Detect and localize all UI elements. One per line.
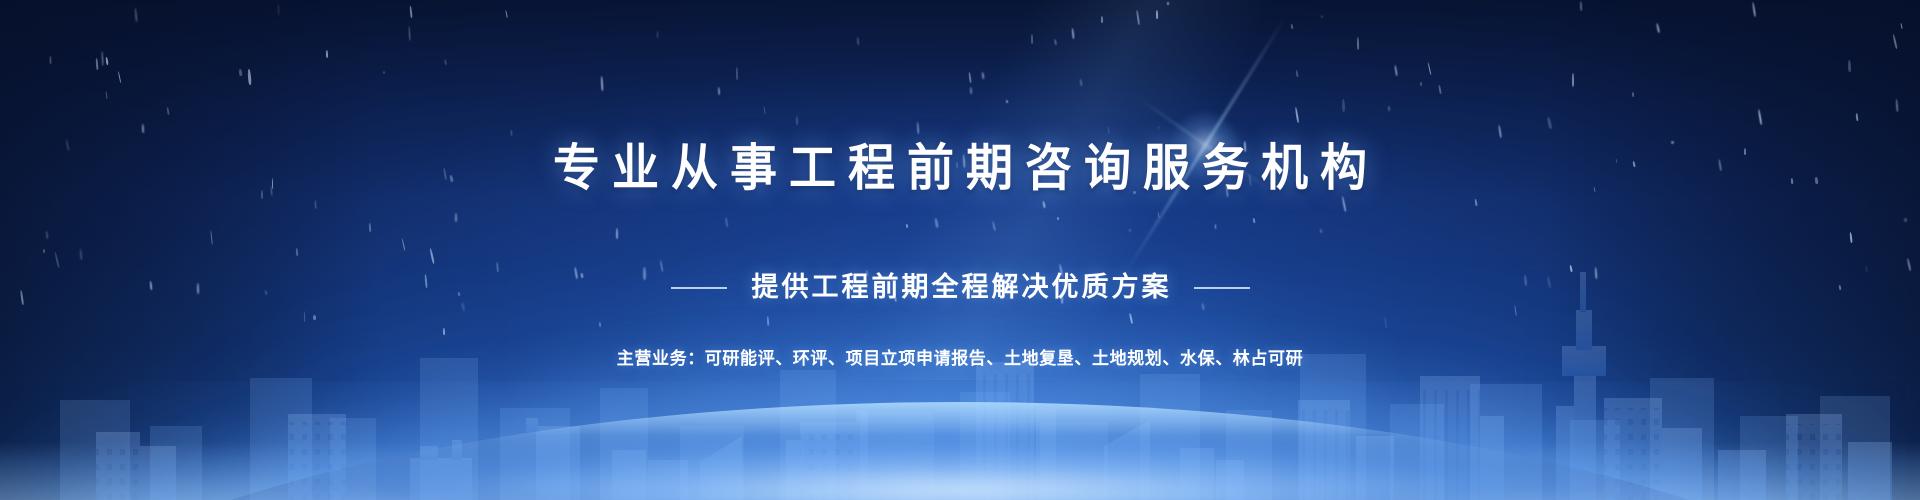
banner-content: 专业从事工程前期咨询服务机构 提供工程前期全程解决优质方案 主营业务：可研能评、… [0,0,1920,500]
banner-business-line: 主营业务：可研能评、环评、项目立项申请报告、土地复垦、土地规划、水保、林占可研 [617,350,1303,367]
right-dash-icon [1194,287,1250,289]
banner-subtitle-row: 提供工程前期全程解决优质方案 [671,252,1250,324]
banner-subtitle: 提供工程前期全程解决优质方案 [749,274,1172,301]
left-dash-icon [671,287,727,289]
banner-title: 专业从事工程前期咨询服务机构 [541,143,1379,193]
hero-banner: 专业从事工程前期咨询服务机构 提供工程前期全程解决优质方案 主营业务：可研能评、… [0,0,1920,500]
